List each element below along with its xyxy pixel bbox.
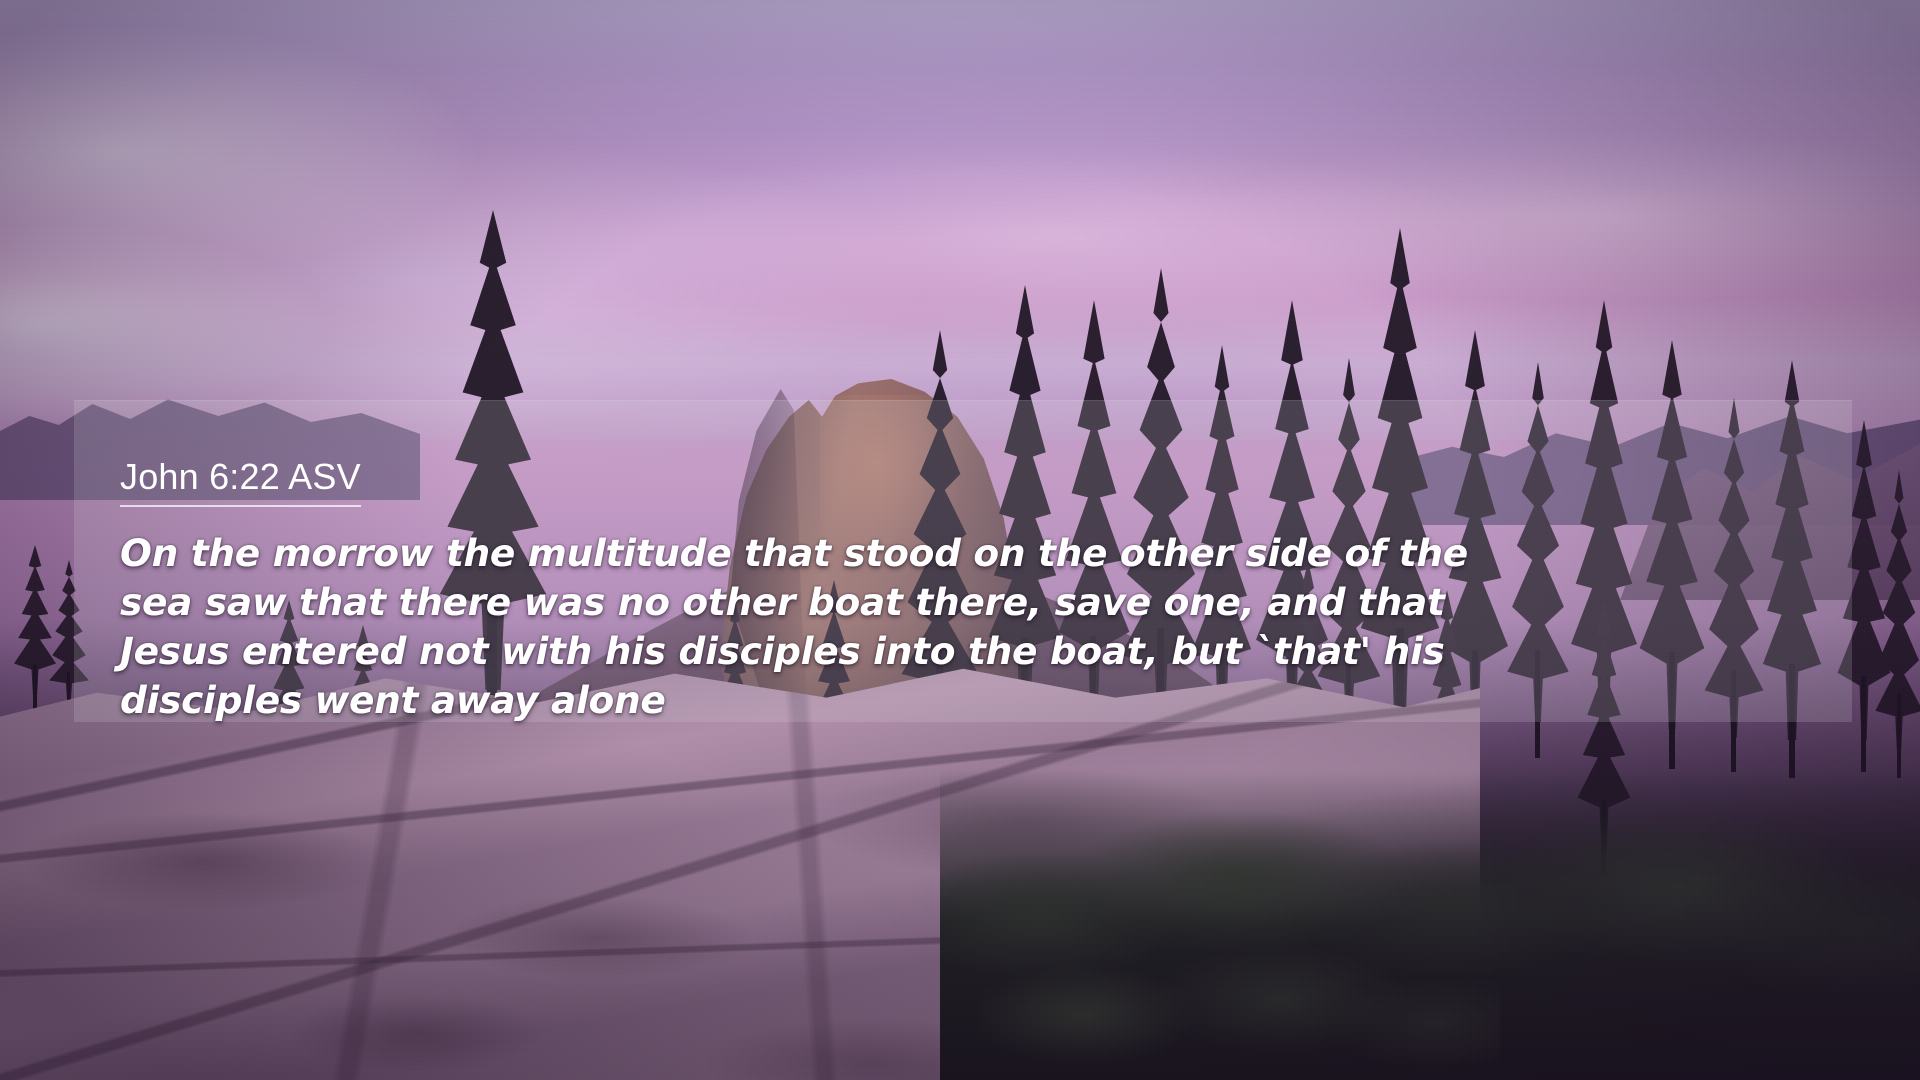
verse-overlay-panel: John 6:22 ASV On the morrow the multitud… (74, 400, 1852, 722)
verse-reference: John 6:22 ASV (120, 459, 361, 507)
verse-content: John 6:22 ASV On the morrow the multitud… (120, 401, 1820, 725)
verse-wallpaper: John 6:22 ASV On the morrow the multitud… (0, 0, 1920, 1080)
verse-text: On the morrow the multitude that stood o… (120, 529, 1490, 725)
